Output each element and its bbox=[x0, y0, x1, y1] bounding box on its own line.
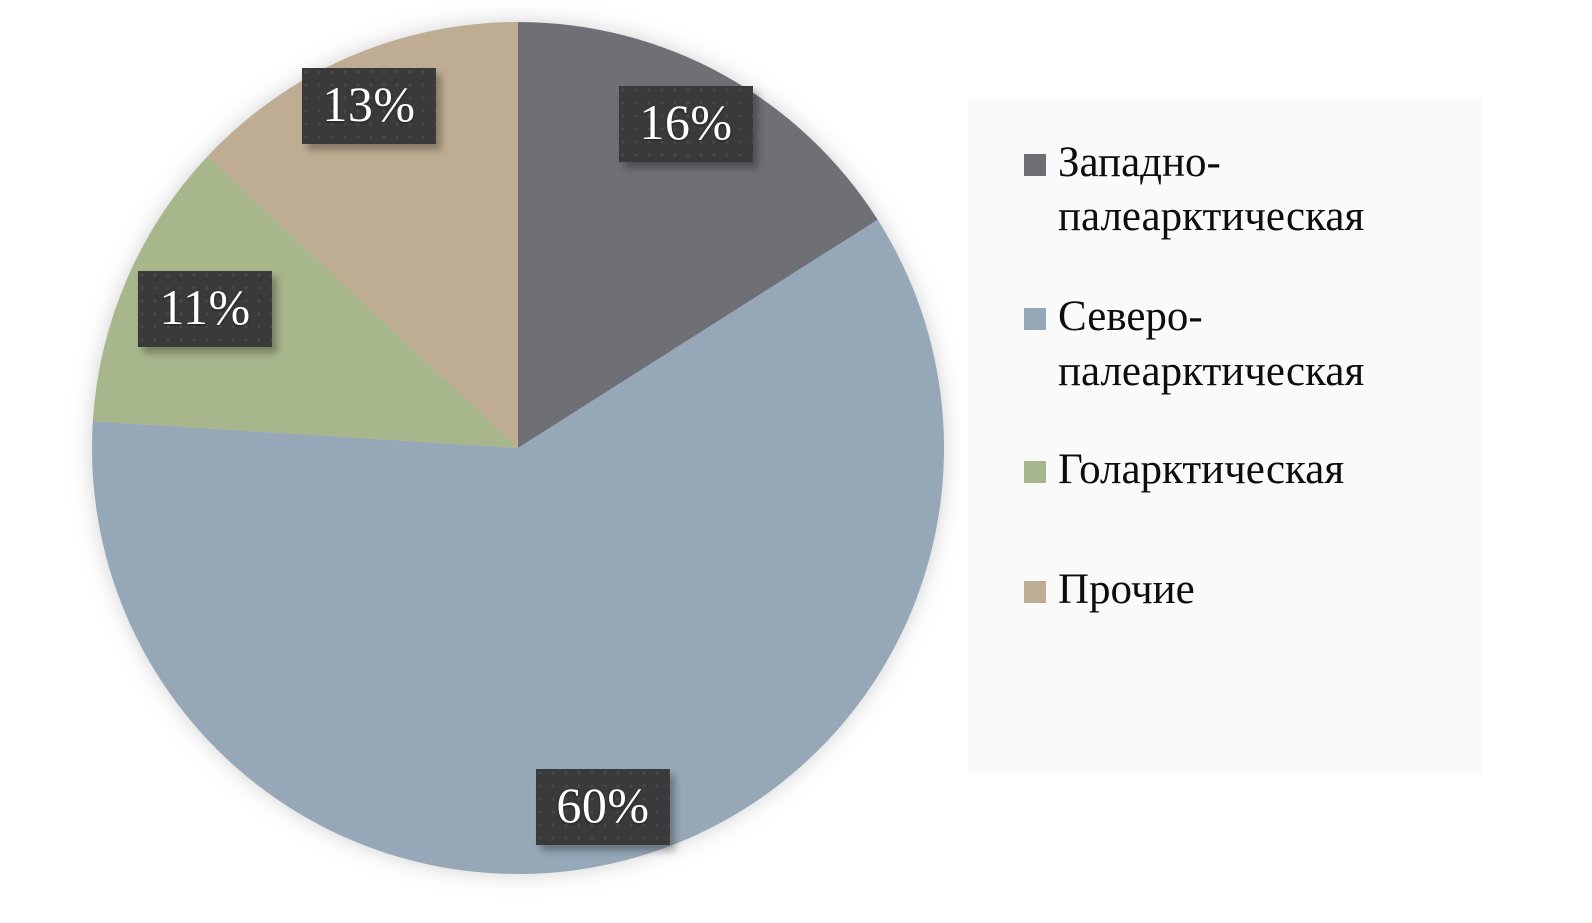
data-label-golarkticheskaya: 11% bbox=[138, 271, 272, 347]
pie-svg bbox=[0, 0, 960, 923]
pie-chart: 16% 60% 11% 13% Западно-палеарктическая … bbox=[0, 0, 1592, 923]
legend-item-severo-palearkticheskaya[interactable]: Северо-палеарктическая bbox=[1024, 290, 1482, 398]
pie-plot-area: 16% 60% 11% 13% bbox=[0, 0, 960, 923]
legend-swatch-icon bbox=[1024, 581, 1046, 603]
data-label-prochie: 13% bbox=[302, 68, 436, 144]
legend-item-zapadno-palearkticheskaya[interactable]: Западно-палеарктическая bbox=[1024, 136, 1482, 244]
data-label-severo-palearkticheskaya: 60% bbox=[536, 769, 670, 845]
legend-item-golarkticheskaya[interactable]: Голарктическая bbox=[1024, 443, 1482, 497]
legend-item-label: Голарктическая bbox=[1058, 443, 1344, 497]
legend-item-prochie[interactable]: Прочие bbox=[1024, 563, 1482, 617]
legend-item-label: Западно-палеарктическая bbox=[1058, 136, 1458, 244]
legend-swatch-icon bbox=[1024, 154, 1046, 176]
data-label-zapadno-palearkticheskaya: 16% bbox=[619, 86, 753, 162]
legend-swatch-icon bbox=[1024, 461, 1046, 483]
chart-legend: Западно-палеарктическая Северо-палеаркти… bbox=[968, 98, 1482, 775]
legend-item-label: Прочие bbox=[1058, 563, 1195, 617]
legend-swatch-icon bbox=[1024, 308, 1046, 330]
legend-item-label: Северо-палеарктическая bbox=[1058, 290, 1458, 398]
